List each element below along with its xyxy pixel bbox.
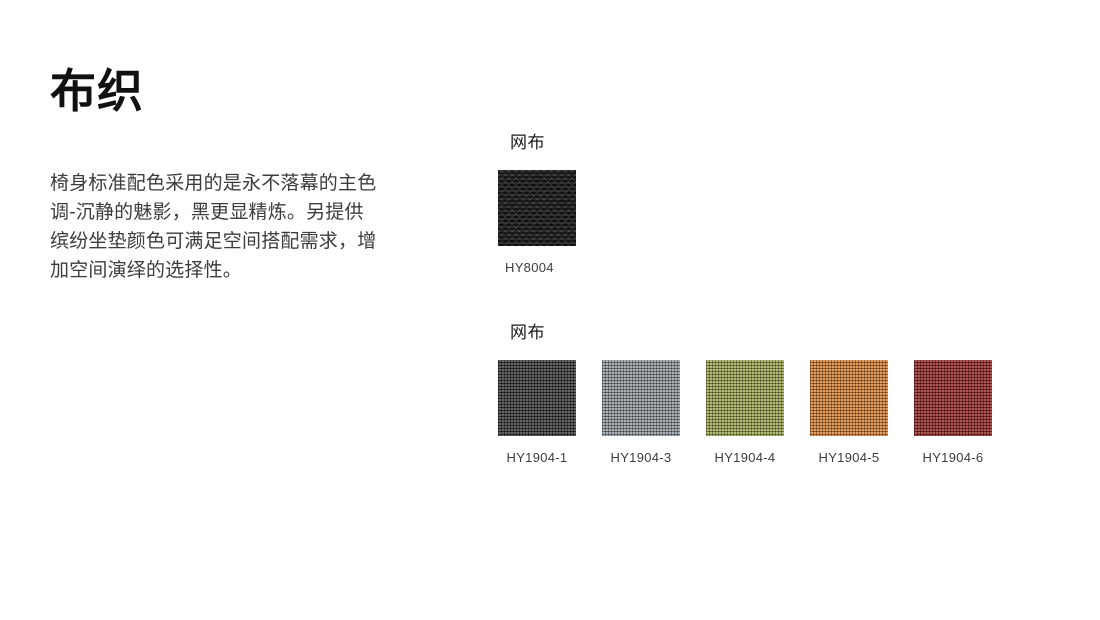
fabric-swatch-hy8004[interactable] — [498, 170, 576, 246]
swatch-caption: HY1904-3 — [602, 450, 680, 466]
fabric-swatch-hy1904-6[interactable] — [914, 360, 992, 436]
swatch-cell[interactable]: HY8004 — [498, 170, 576, 276]
swatch-area: 网布 HY8004 网布 HY1904-1 HY1904-3 HY1904-4 — [498, 0, 1058, 620]
swatch-caption: HY1904-4 — [706, 450, 784, 466]
swatch-row: HY8004 — [498, 170, 576, 276]
fabric-swatch-hy1904-5[interactable] — [810, 360, 888, 436]
swatch-group-mesh-primary: 网布 HY8004 — [498, 132, 576, 276]
swatch-cell[interactable]: HY1904-1 — [498, 360, 576, 466]
text-column: 布织 椅身标准配色采用的是永不落幕的主色调-沉静的魅影，黑更显精炼。另提供缤纷坐… — [50, 66, 430, 285]
fabric-swatch-hy1904-1[interactable] — [498, 360, 576, 436]
page-title: 布织 — [50, 66, 430, 117]
swatch-group-mesh-colors: 网布 HY1904-1 HY1904-3 HY1904-4 HY1904-5 H… — [498, 322, 992, 466]
swatch-caption: HY1904-5 — [810, 450, 888, 466]
swatch-cell[interactable]: HY1904-6 — [914, 360, 992, 466]
swatch-caption: HY1904-1 — [498, 450, 576, 466]
swatch-cell[interactable]: HY1904-3 — [602, 360, 680, 466]
swatch-caption: HY1904-6 — [914, 450, 992, 466]
swatch-cell[interactable]: HY1904-4 — [706, 360, 784, 466]
body-paragraph: 椅身标准配色采用的是永不落幕的主色调-沉静的魅影，黑更显精炼。另提供缤纷坐垫颜色… — [50, 169, 380, 285]
swatch-cell[interactable]: HY1904-5 — [810, 360, 888, 466]
fabric-swatch-hy1904-4[interactable] — [706, 360, 784, 436]
group-heading: 网布 — [510, 132, 576, 154]
fabric-swatch-hy1904-3[interactable] — [602, 360, 680, 436]
group-heading: 网布 — [510, 322, 992, 344]
swatch-caption: HY8004 — [498, 260, 576, 276]
swatch-row: HY1904-1 HY1904-3 HY1904-4 HY1904-5 HY19… — [498, 360, 992, 466]
